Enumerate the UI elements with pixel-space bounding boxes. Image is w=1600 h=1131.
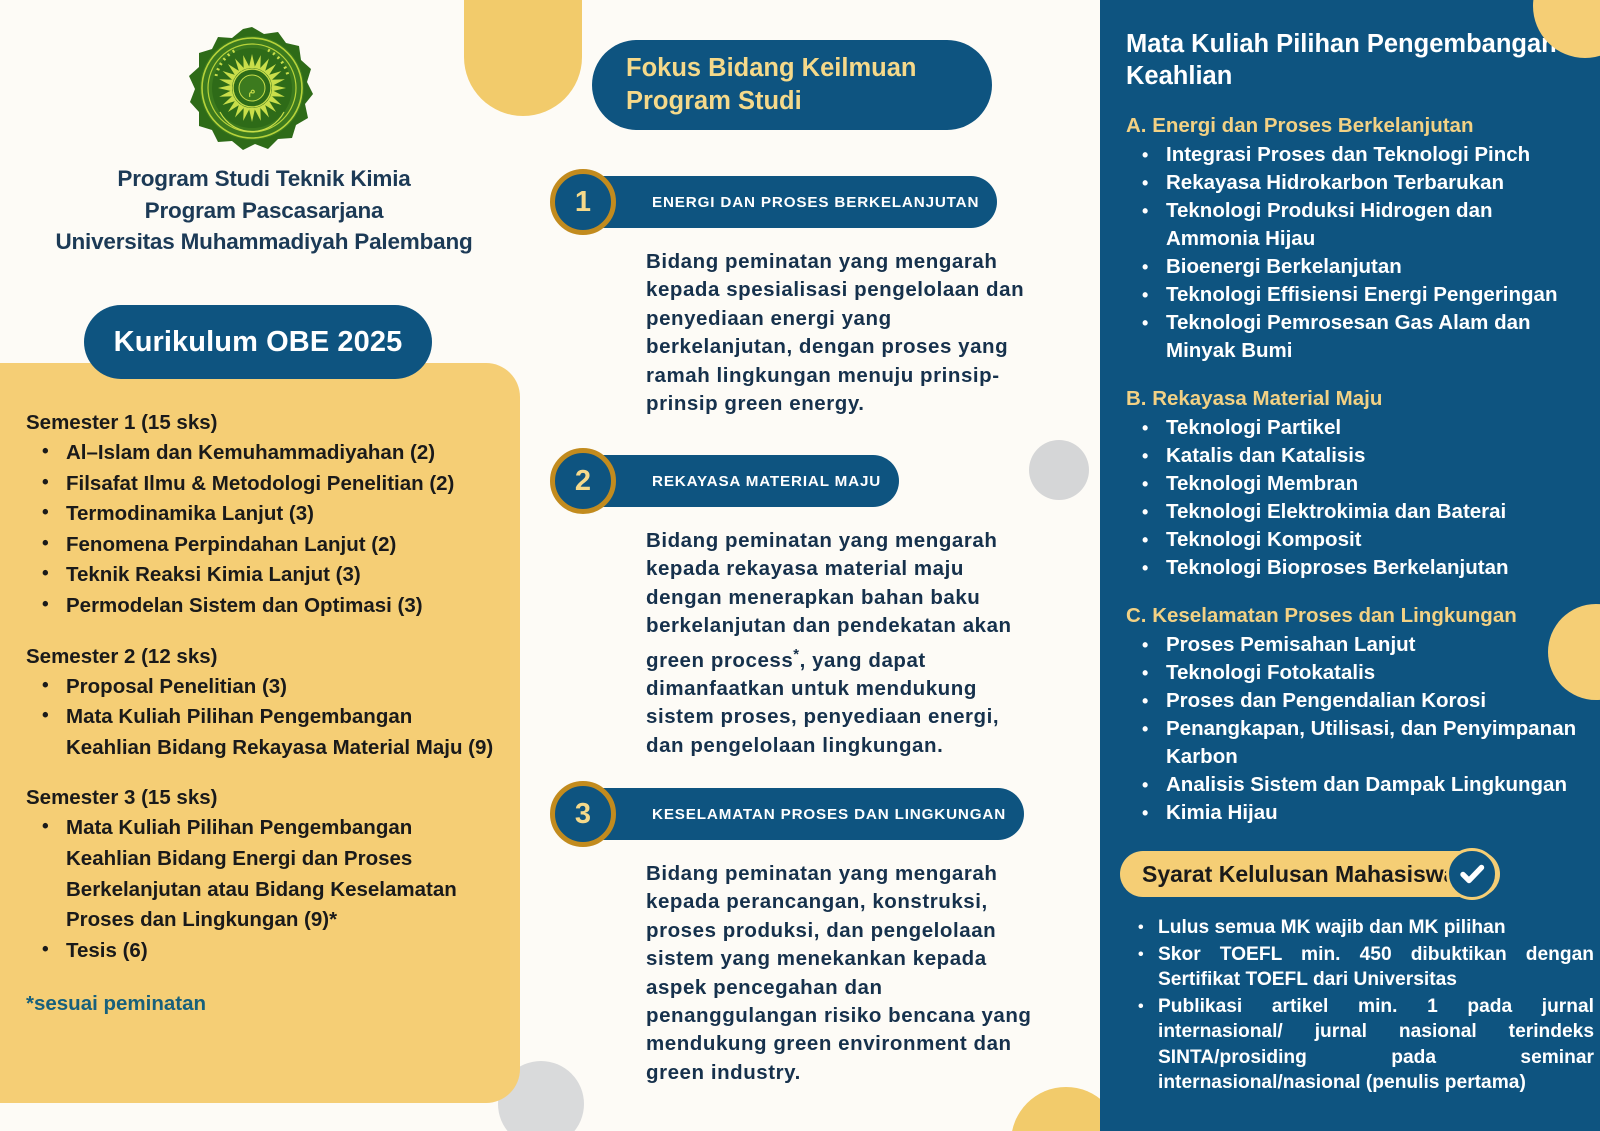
curriculum-badge: Kurikulum OBE 2025 [84,305,432,379]
focus-block-3-title-bar: KESELAMATAN PROSES DAN LINGKUNGAN [572,788,1024,840]
graduation-requirements-badge: Syarat Kelulusan Mahasiswa [1120,851,1500,897]
list-item: Teknologi Elektrokimia dan Baterai [1134,498,1582,526]
list-item: Teknologi Produksi Hidrogen dan Ammonia … [1134,197,1582,253]
semester-1-heading: Semester 1 (15 sks) [26,410,498,436]
focus-block-1-title: ENERGI DAN PROSES BERKELANJUTAN [652,194,979,211]
spacer [26,622,498,644]
middle-column: Fokus Bidang Keilmuan Program Studi ENER… [540,0,1060,1131]
focus-block-2-number: 2 [550,448,616,514]
list-item: Proposal Penelitian (3) [32,672,498,703]
focus-block-2-title: REKAYASA MATERIAL MAJU [652,473,881,490]
semester-3-heading: Semester 3 (15 sks) [26,785,498,811]
focus-block-1: ENERGI DAN PROSES BERKELANJUTAN 1 Bidang… [540,176,1060,418]
focus-block-3: KESELAMATAN PROSES DAN LINGKUNGAN 3 Bida… [540,788,1060,1087]
list-item: Teknologi Pemrosesan Gas Alam dan Minyak… [1134,309,1582,365]
list-item: Teknologi Komposit [1134,526,1582,554]
program-title: Program Studi Teknik Kimia Program Pasca… [0,163,528,258]
focus-number-label: 2 [575,465,591,498]
elective-group-a-list: Integrasi Proses dan Teknologi Pinch Rek… [1134,141,1582,365]
list-item: Skor TOEFL min. 450 dibuktikan dengan Se… [1128,942,1594,993]
left-column: م Program Studi Teknik Kimia Program Pas… [0,0,528,1131]
elective-group-a-heading: A. Energi dan Proses Berkelanjutan [1126,112,1582,139]
focus-header-badge: Fokus Bidang Keilmuan Program Studi [592,40,992,130]
list-item: Kimia Hijau [1134,799,1582,827]
list-item: Rekayasa Hidrokarbon Terbarukan [1134,169,1582,197]
focus-block-1-number: 1 [550,169,616,235]
list-item: Mata Kuliah Pilihan Pengembangan Keahlia… [32,813,498,935]
spacer [26,763,498,785]
list-item: Teknik Reaksi Kimia Lanjut (3) [32,560,498,591]
focus-header-line-1: Fokus Bidang Keilmuan [626,52,992,85]
list-item: Teknologi Bioproses Berkelanjutan [1134,554,1582,582]
list-item: Fenomena Perpindahan Lanjut (2) [32,530,498,561]
focus-block-1-body: Bidang peminatan yang mengarah kepada sp… [646,248,1042,418]
elective-courses-title: Mata Kuliah Pilihan Pengembangan Keahlia… [1126,28,1582,92]
list-item: Teknologi Effisiensi Energi Pengeringan [1134,281,1582,309]
list-item: Tesis (6) [32,936,498,967]
elective-group-c-heading: C. Keselamatan Proses dan Lingkungan [1126,602,1582,629]
infographic-page: م Program Studi Teknik Kimia Program Pas… [0,0,1600,1131]
curriculum-badge-label: Kurikulum OBE 2025 [114,326,403,359]
elective-group-b-list: Teknologi Partikel Katalis dan Katalisis… [1134,414,1582,582]
list-item: Termodinamika Lanjut (3) [32,499,498,530]
focus-block-3-title: KESELAMATAN PROSES DAN LINGKUNGAN [652,806,1006,823]
graduation-requirements-list: Lulus semua MK wajib dan MK pilihan Skor… [1128,915,1594,1096]
program-title-line-3: Universitas Muhammadiyah Palembang [0,226,528,258]
semester-3-course-list: Mata Kuliah Pilihan Pengembangan Keahlia… [32,813,498,966]
focus-block-1-title-bar: ENERGI DAN PROSES BERKELANJUTAN [572,176,997,228]
graduation-requirements-label: Syarat Kelulusan Mahasiswa [1142,861,1456,888]
focus-block-2: REKAYASA MATERIAL MAJU 2 Bidang peminata… [540,455,1060,760]
focus-number-label: 1 [575,186,591,219]
focus-block-1-header: ENERGI DAN PROSES BERKELANJUTAN 1 [540,176,1060,234]
program-title-line-2: Program Pascasarjana [0,195,528,227]
right-panel: Mata Kuliah Pilihan Pengembangan Keahlia… [1100,0,1600,1131]
list-item: Publikasi artikel min. 1 pada jurnal int… [1128,994,1594,1096]
list-item: Penangkapan, Utilisasi, dan Penyimpanan … [1134,715,1582,771]
elective-group-a: A. Energi dan Proses Berkelanjutan Integ… [1114,112,1582,365]
university-seal-logo: م [186,24,318,156]
elective-group-c: C. Keselamatan Proses dan Lingkungan Pro… [1114,602,1582,827]
semester-2-course-list: Proposal Penelitian (3) Mata Kuliah Pili… [32,672,498,764]
semester-2-heading: Semester 2 (12 sks) [26,644,498,670]
program-title-line-1: Program Studi Teknik Kimia [0,163,528,195]
focus-block-2-body: Bidang peminatan yang mengarah kepada re… [646,527,1042,760]
focus-block-2-title-bar: REKAYASA MATERIAL MAJU [572,455,899,507]
list-item: Proses Pemisahan Lanjut [1134,631,1582,659]
focus-block-3-header: KESELAMATAN PROSES DAN LINGKUNGAN 3 [540,788,1060,846]
svg-text:م: م [248,83,255,97]
list-item: Proses dan Pengendalian Korosi [1134,687,1582,715]
list-item: Al–Islam dan Kemuhammadiyahan (2) [32,438,498,469]
semester-card: Semester 1 (15 sks) Al–Islam dan Kemuham… [0,363,520,1103]
focus-block-3-number: 3 [550,781,616,847]
list-item: Permodelan Sistem dan Optimasi (3) [32,591,498,622]
list-item: Bioenergi Berkelanjutan [1134,253,1582,281]
semester-1-course-list: Al–Islam dan Kemuhammadiyahan (2) Filsaf… [32,438,498,622]
elective-group-c-list: Proses Pemisahan Lanjut Teknologi Fotoka… [1134,631,1582,827]
list-item: Katalis dan Katalisis [1134,442,1582,470]
footnote: *sesuai peminatan [26,992,498,1016]
list-item: Teknologi Fotokatalis [1134,659,1582,687]
focus-block-3-body: Bidang peminatan yang mengarah kepada pe… [646,860,1042,1087]
focus-block-2-header: REKAYASA MATERIAL MAJU 2 [540,455,1060,513]
list-item: Analisis Sistem dan Dampak Lingkungan [1134,771,1582,799]
list-item: Integrasi Proses dan Teknologi Pinch [1134,141,1582,169]
list-item: Teknologi Membran [1134,470,1582,498]
list-item: Mata Kuliah Pilihan Pengembangan Keahlia… [32,702,498,763]
check-mark-icon [1446,848,1498,900]
list-item: Lulus semua MK wajib dan MK pilihan [1128,915,1594,941]
elective-group-b-heading: B. Rekayasa Material Maju [1126,385,1582,412]
elective-group-b: B. Rekayasa Material Maju Teknologi Part… [1114,385,1582,582]
list-item: Filsafat Ilmu & Metodologi Penelitian (2… [32,469,498,500]
list-item: Teknologi Partikel [1134,414,1582,442]
focus-header-line-2: Program Studi [626,85,992,118]
focus-number-label: 3 [575,798,591,831]
